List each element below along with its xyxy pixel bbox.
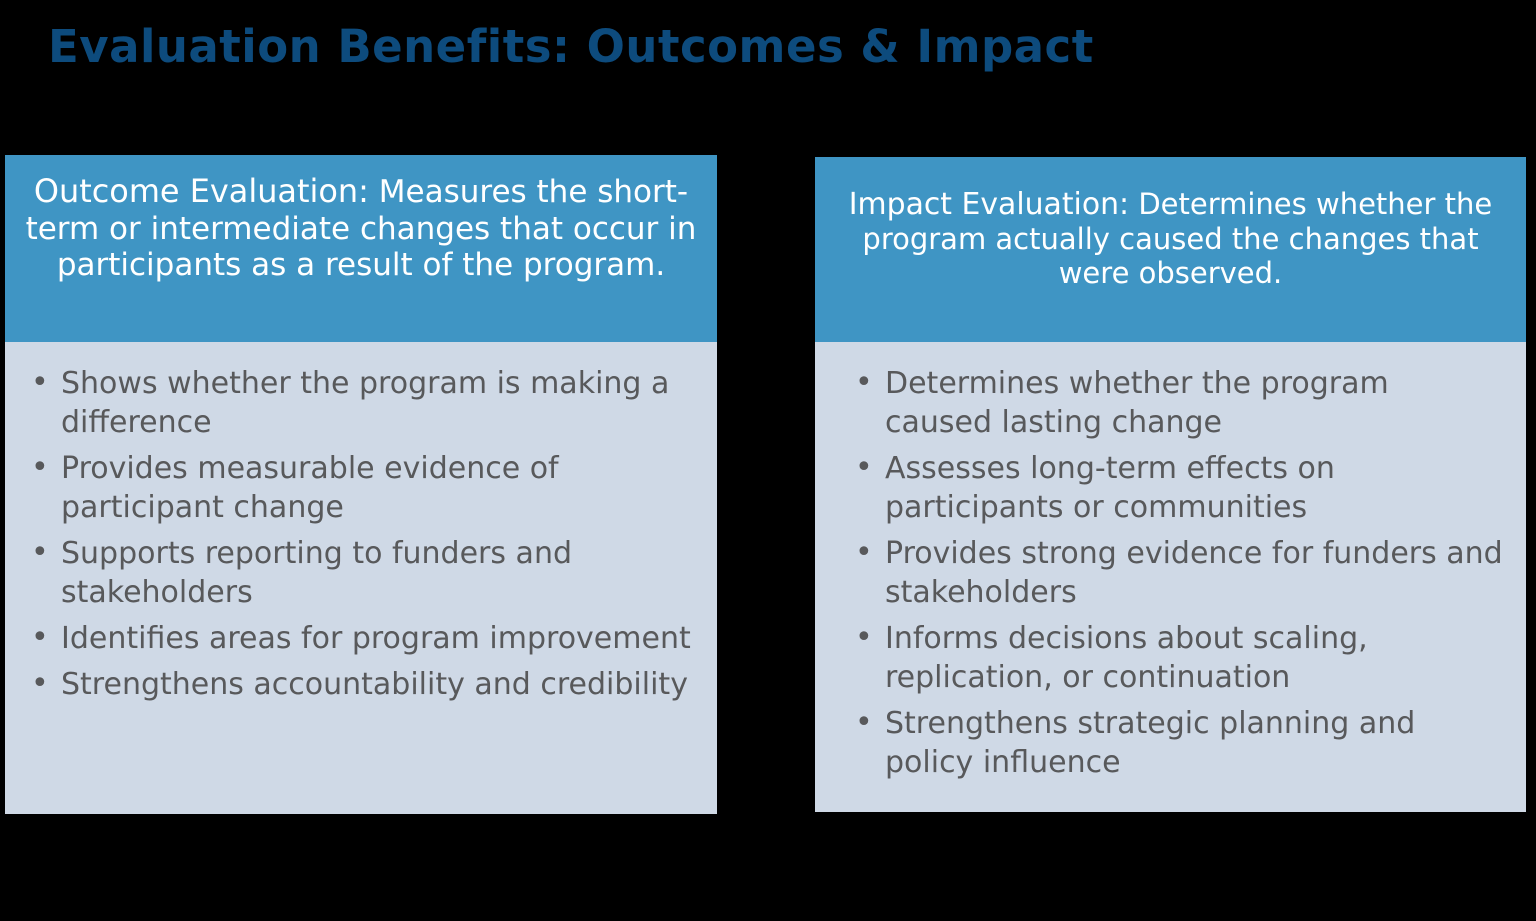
card-outcome-body: Shows whether the program is making a di…: [5, 342, 717, 814]
card-impact-evaluation: Impact Evaluation: Determines whether th…: [815, 157, 1526, 812]
list-item: Provides measurable evidence of particip…: [23, 449, 699, 527]
list-item: Shows whether the program is making a di…: [23, 364, 699, 442]
comparison-cards-container: Outcome Evaluation: Measures the short-t…: [0, 0, 1536, 921]
list-item: Determines whether the program caused la…: [847, 364, 1504, 442]
outcome-benefits-list: Shows whether the program is making a di…: [23, 364, 699, 704]
impact-benefits-list: Determines whether the program caused la…: [847, 364, 1504, 782]
list-item: Informs decisions about scaling, replica…: [847, 619, 1504, 697]
slide-canvas: Evaluation Benefits: Outcomes & Impact O…: [0, 0, 1536, 921]
list-item: Provides strong evidence for funders and…: [847, 534, 1504, 612]
card-outcome-evaluation: Outcome Evaluation: Measures the short-t…: [5, 155, 717, 814]
list-item: Strengthens accountability and credibili…: [23, 665, 699, 704]
card-impact-body: Determines whether the program caused la…: [815, 342, 1526, 812]
card-outcome-header-lead: Outcome Evaluation:: [34, 172, 369, 210]
card-outcome-header: Outcome Evaluation: Measures the short-t…: [5, 155, 717, 342]
list-item: Strengthens strategic planning and polic…: [847, 704, 1504, 782]
list-item: Supports reporting to funders and stakeh…: [23, 534, 699, 612]
card-impact-header: Impact Evaluation: Determines whether th…: [815, 157, 1526, 342]
list-item: Assesses long-term effects on participan…: [847, 449, 1504, 527]
list-item: Identifies areas for program improvement: [23, 619, 699, 658]
card-impact-header-lead: Impact Evaluation:: [849, 187, 1129, 222]
